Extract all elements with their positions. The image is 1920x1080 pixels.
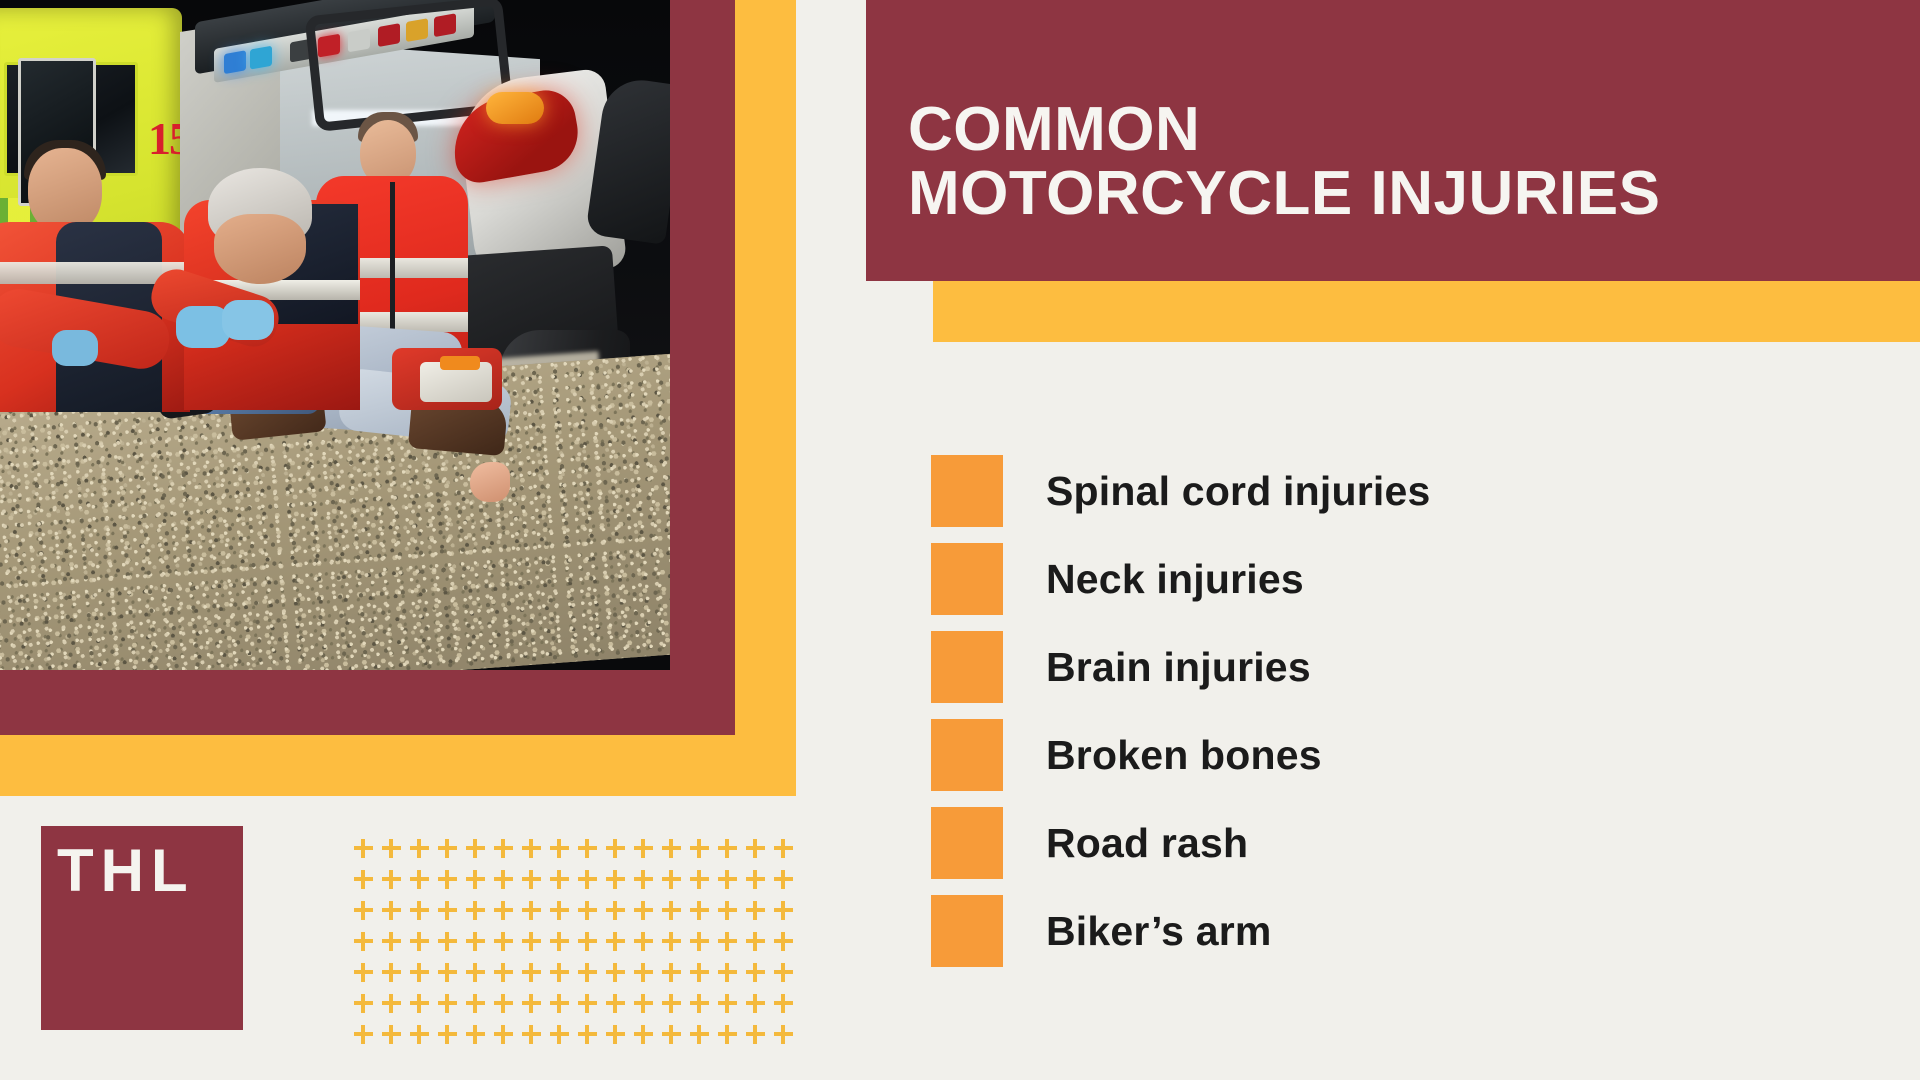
plus-icon — [465, 869, 493, 900]
plus-icon — [717, 838, 745, 869]
plus-icon — [521, 1024, 549, 1055]
thl-logo: THL — [41, 826, 243, 1030]
plus-icon — [465, 1024, 493, 1055]
plus-icon — [521, 838, 549, 869]
bare-foot — [470, 462, 510, 502]
plus-icon — [745, 900, 773, 931]
plus-icon — [437, 838, 465, 869]
injury-list: Spinal cord injuriesNeck injuriesBrain i… — [931, 455, 1831, 983]
plus-icon — [409, 931, 437, 962]
plus-icon — [689, 869, 717, 900]
plus-icon — [353, 931, 381, 962]
plus-icon — [381, 931, 409, 962]
page-title: COMMON MOTORCYCLE INJURIES — [908, 98, 1908, 227]
plus-icon — [493, 962, 521, 993]
plus-icon — [437, 931, 465, 962]
plus-icon — [549, 1024, 577, 1055]
plus-icon — [605, 993, 633, 1024]
plus-icon — [661, 869, 689, 900]
plus-icon — [465, 993, 493, 1024]
lightbar-lamp-blue — [224, 50, 246, 74]
plus-icon — [661, 900, 689, 931]
yellow-accent-bar — [933, 281, 1920, 342]
plus-icon — [521, 931, 549, 962]
medic-right-glove-second — [222, 300, 274, 340]
plus-icon — [437, 869, 465, 900]
plus-icon — [773, 900, 801, 931]
plus-icon — [493, 838, 521, 869]
plus-icon — [465, 962, 493, 993]
plus-icon — [493, 900, 521, 931]
plus-icon — [605, 900, 633, 931]
plus-icon — [549, 900, 577, 931]
thl-logo-text: THL — [57, 841, 195, 901]
plus-icon — [717, 869, 745, 900]
plus-icon — [633, 993, 661, 1024]
plus-icon — [549, 838, 577, 869]
square-bullet-icon — [931, 543, 1003, 615]
plus-icon — [773, 1024, 801, 1055]
plus-icon — [381, 962, 409, 993]
plus-icon — [577, 838, 605, 869]
plus-icon — [745, 931, 773, 962]
medical-kit-orange-strap — [440, 356, 480, 370]
plus-icon — [689, 1024, 717, 1055]
plus-icon — [605, 869, 633, 900]
plus-icon — [605, 962, 633, 993]
plus-icon — [577, 993, 605, 1024]
list-item-label: Brain injuries — [1046, 631, 1311, 703]
slide-canvas: 15 — [0, 0, 1920, 1080]
plus-icon — [717, 993, 745, 1024]
motorcycle-indicator — [486, 92, 544, 124]
plus-icon — [353, 838, 381, 869]
plus-icon — [493, 1024, 521, 1055]
plus-icon — [633, 931, 661, 962]
plus-icon — [493, 931, 521, 962]
plus-icon — [577, 931, 605, 962]
plus-icon — [577, 962, 605, 993]
accident-photo: 15 — [0, 0, 670, 670]
plus-icon — [409, 838, 437, 869]
plus-icon — [409, 900, 437, 931]
square-bullet-icon — [931, 455, 1003, 527]
plus-icon — [521, 993, 549, 1024]
plus-icon — [577, 869, 605, 900]
plus-icon — [773, 931, 801, 962]
plus-icon — [577, 900, 605, 931]
list-item: Broken bones — [931, 719, 1831, 807]
plus-icon — [353, 869, 381, 900]
plus-icon — [493, 993, 521, 1024]
plus-icon — [661, 1024, 689, 1055]
plus-icon — [381, 1024, 409, 1055]
plus-icon — [605, 838, 633, 869]
plus-icon — [717, 900, 745, 931]
list-item: Road rash — [931, 807, 1831, 895]
plus-icon — [773, 993, 801, 1024]
page-title-line-1: COMMON — [908, 98, 1908, 162]
plus-icon — [633, 838, 661, 869]
plus-icon — [689, 962, 717, 993]
plus-icon — [773, 869, 801, 900]
medic-left-glove — [52, 330, 98, 366]
plus-icon — [633, 869, 661, 900]
medic-right-face — [214, 214, 306, 284]
plus-icon — [409, 962, 437, 993]
plus-icon — [577, 1024, 605, 1055]
plus-icon — [745, 993, 773, 1024]
list-item: Brain injuries — [931, 631, 1831, 719]
plus-icon — [381, 869, 409, 900]
plus-icon — [465, 900, 493, 931]
plus-icon — [633, 1024, 661, 1055]
plus-icon — [605, 931, 633, 962]
plus-icon — [521, 900, 549, 931]
list-item-label: Biker’s arm — [1046, 895, 1272, 967]
plus-icon — [353, 900, 381, 931]
plus-icon — [437, 993, 465, 1024]
plus-icon — [745, 838, 773, 869]
plus-icon — [661, 838, 689, 869]
square-bullet-icon — [931, 631, 1003, 703]
plus-icon — [437, 900, 465, 931]
plus-icon — [717, 1024, 745, 1055]
plus-icon — [773, 838, 801, 869]
title-block: COMMON MOTORCYCLE INJURIES — [866, 0, 1920, 281]
plus-icon — [661, 962, 689, 993]
plus-icon — [745, 869, 773, 900]
plus-icon — [689, 931, 717, 962]
plus-icon — [437, 1024, 465, 1055]
plus-icon — [549, 962, 577, 993]
plus-icon — [549, 869, 577, 900]
plus-icon — [689, 838, 717, 869]
plus-icon — [633, 900, 661, 931]
plus-icon — [381, 900, 409, 931]
plus-icon — [437, 962, 465, 993]
plus-icon — [717, 962, 745, 993]
plus-icon — [521, 869, 549, 900]
list-item-label: Road rash — [1046, 807, 1248, 879]
plus-icon — [493, 869, 521, 900]
plus-icon — [465, 838, 493, 869]
list-item: Spinal cord injuries — [931, 455, 1831, 543]
plus-icon — [745, 1024, 773, 1055]
plus-icon — [409, 869, 437, 900]
plus-icon — [689, 993, 717, 1024]
list-item-label: Spinal cord injuries — [1046, 455, 1430, 527]
list-item-label: Neck injuries — [1046, 543, 1304, 615]
plus-icon — [381, 993, 409, 1024]
plus-icon — [549, 993, 577, 1024]
plus-icon — [465, 931, 493, 962]
list-item: Biker’s arm — [931, 895, 1831, 983]
list-item-label: Broken bones — [1046, 719, 1322, 791]
plus-icon — [773, 962, 801, 993]
plus-pattern-decoration — [353, 838, 801, 1050]
plus-icon — [381, 838, 409, 869]
plus-icon — [633, 962, 661, 993]
lightbar-lamp-blue-2 — [250, 46, 272, 70]
plus-icon — [717, 931, 745, 962]
square-bullet-icon — [931, 719, 1003, 791]
plus-icon — [353, 1024, 381, 1055]
plus-icon — [745, 962, 773, 993]
page-title-line-2: MOTORCYCLE INJURIES — [908, 162, 1908, 226]
square-bullet-icon — [931, 807, 1003, 879]
plus-icon — [549, 931, 577, 962]
photo-scene: 15 — [0, 0, 670, 670]
plus-icon — [661, 993, 689, 1024]
plus-icon — [605, 1024, 633, 1055]
plus-icon — [353, 962, 381, 993]
plus-icon — [661, 931, 689, 962]
plus-icon — [521, 962, 549, 993]
plus-icon — [353, 993, 381, 1024]
list-item: Neck injuries — [931, 543, 1831, 631]
square-bullet-icon — [931, 895, 1003, 967]
plus-icon — [409, 993, 437, 1024]
plus-icon — [689, 900, 717, 931]
plus-icon — [409, 1024, 437, 1055]
